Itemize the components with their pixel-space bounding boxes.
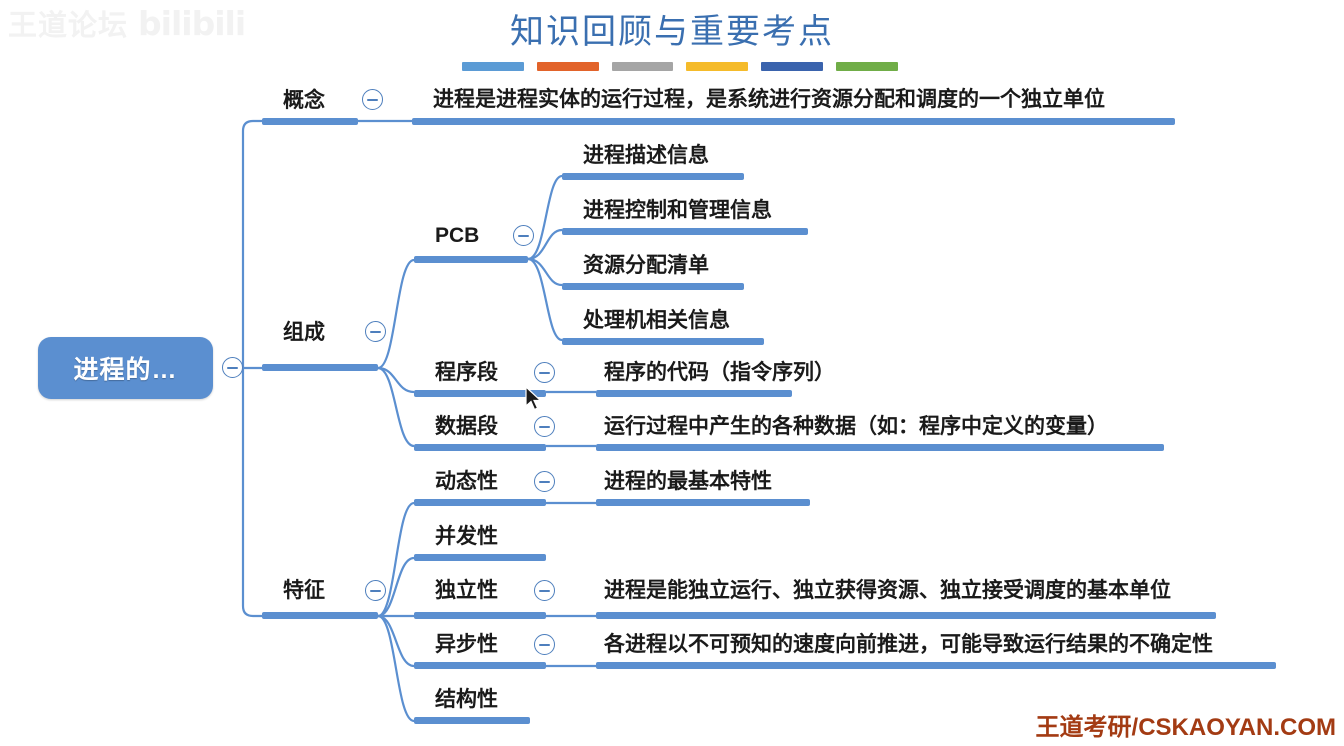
mouse-cursor <box>524 386 544 412</box>
leaf-pcb-resource-underline <box>562 283 744 290</box>
detail-data-segment-underline <box>596 444 1164 451</box>
topic-program-segment-toggle[interactable] <box>534 362 555 383</box>
topic-composition-label[interactable]: 组成 <box>283 322 325 343</box>
root-node[interactable]: 进程的… <box>38 337 213 399</box>
leaf-pcb-desc-underline <box>562 173 744 180</box>
topic-composition-underline <box>262 364 378 371</box>
topic-dynamic-toggle[interactable] <box>534 471 555 492</box>
detail-independent-underline <box>596 612 1216 619</box>
leaf-pcb-control-label[interactable]: 进程控制和管理信息 <box>583 200 772 221</box>
watermark-bottom-right: 王道考研/CSKAOYAN.COM <box>1036 707 1336 742</box>
detail-program-segment-text[interactable]: 程序的代码（指令序列） <box>604 362 835 383</box>
topic-data-segment-label[interactable]: 数据段 <box>435 416 498 437</box>
topic-concept-underline <box>262 118 358 125</box>
detail-independent-text[interactable]: 进程是能独立运行、独立获得资源、独立接受调度的基本单位 <box>604 580 1171 601</box>
root-node-label: 进程的… <box>73 350 177 386</box>
topic-composition-toggle[interactable] <box>365 321 386 342</box>
detail-concept-underline <box>412 118 1175 125</box>
topic-pcb-label[interactable]: PCB <box>435 225 479 246</box>
topic-independent-underline <box>414 612 546 619</box>
detail-program-segment-underline <box>596 390 792 397</box>
topic-features-toggle[interactable] <box>365 580 386 601</box>
topic-structural-underline <box>414 717 530 724</box>
topic-concurrent-underline <box>414 554 546 561</box>
topic-features-underline <box>262 612 378 619</box>
root-collapse-toggle[interactable] <box>222 357 243 378</box>
detail-asynchronous-text[interactable]: 各进程以不可预知的速度向前推进，可能导致运行结果的不确定性 <box>604 634 1213 655</box>
topic-asynchronous-underline <box>414 662 546 669</box>
topic-dynamic-label[interactable]: 动态性 <box>435 471 498 492</box>
topic-asynchronous-label[interactable]: 异步性 <box>435 634 498 655</box>
topic-independent-toggle[interactable] <box>534 580 555 601</box>
leaf-pcb-desc-label[interactable]: 进程描述信息 <box>583 145 709 166</box>
topic-pcb-toggle[interactable] <box>513 225 534 246</box>
topic-data-segment-toggle[interactable] <box>534 416 555 437</box>
topic-asynchronous-toggle[interactable] <box>534 634 555 655</box>
leaf-pcb-resource-label[interactable]: 资源分配清单 <box>583 255 709 276</box>
topic-structural-label[interactable]: 结构性 <box>435 689 498 710</box>
detail-data-segment-text[interactable]: 运行过程中产生的各种数据（如：程序中定义的变量） <box>604 416 1108 437</box>
topic-dynamic-underline <box>414 499 546 506</box>
detail-dynamic-underline <box>596 499 810 506</box>
leaf-pcb-cpu-label[interactable]: 处理机相关信息 <box>583 310 730 331</box>
detail-concept-text[interactable]: 进程是进程实体的运行过程，是系统进行资源分配和调度的一个独立单位 <box>433 89 1105 110</box>
topic-concept-label[interactable]: 概念 <box>283 90 325 111</box>
topic-features-label[interactable]: 特征 <box>283 580 325 601</box>
detail-dynamic-text[interactable]: 进程的最基本特性 <box>604 471 772 492</box>
topic-data-segment-underline <box>414 444 546 451</box>
mindmap-canvas: 王道论坛bilibili 知识回顾与重要考点 <box>0 0 1344 746</box>
leaf-pcb-cpu-underline <box>562 338 764 345</box>
topic-pcb-underline <box>414 256 528 263</box>
topic-independent-label[interactable]: 独立性 <box>435 580 498 601</box>
topic-concurrent-label[interactable]: 并发性 <box>435 526 498 547</box>
detail-asynchronous-underline <box>596 662 1276 669</box>
topic-concept-toggle[interactable] <box>362 89 383 110</box>
leaf-pcb-control-underline <box>562 228 808 235</box>
topic-program-segment-label[interactable]: 程序段 <box>435 362 498 383</box>
